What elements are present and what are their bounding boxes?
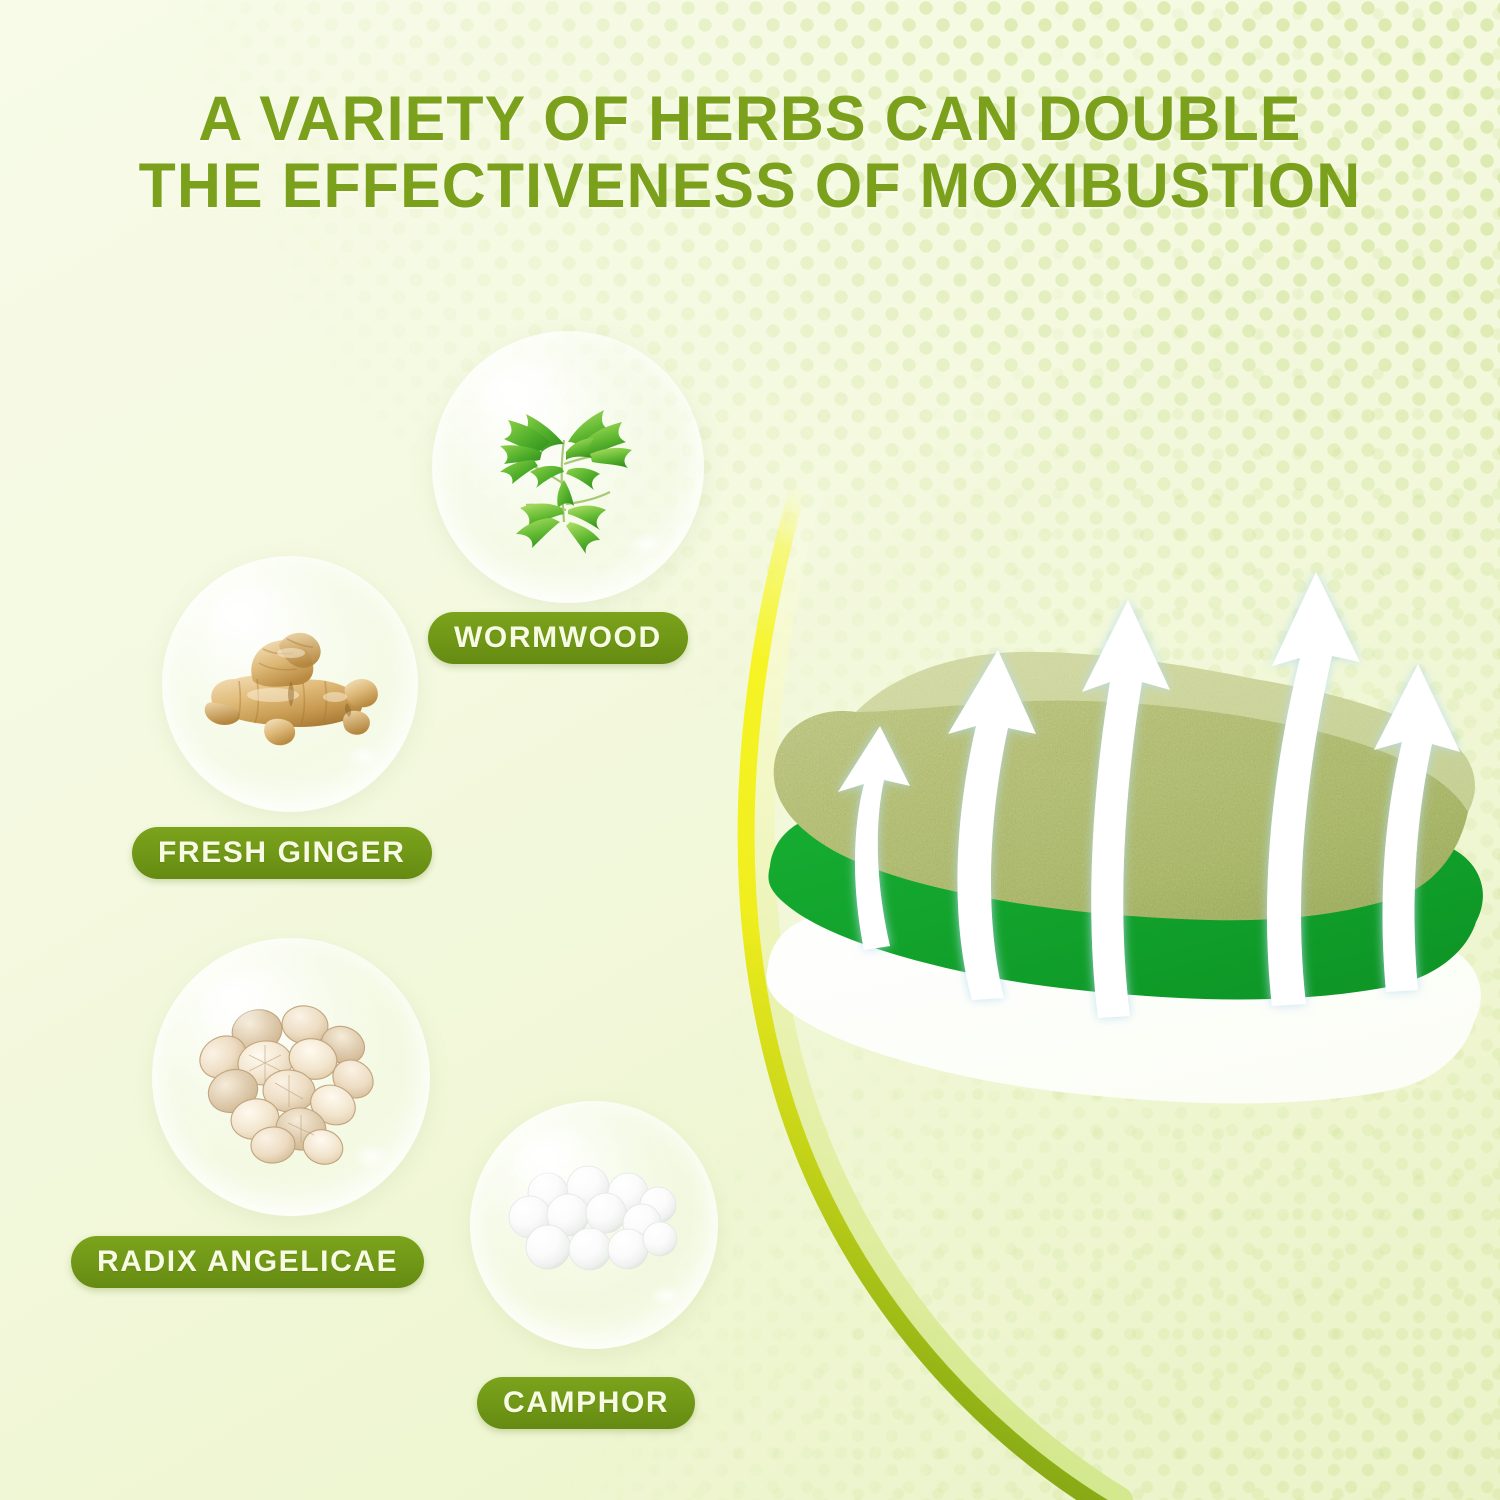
- herb-label-camphor[interactable]: CAMPHOR: [477, 1377, 695, 1429]
- camphor-balls-icon: [470, 1101, 718, 1349]
- ginger-root-icon: [162, 556, 418, 812]
- herb-bubble-radix-angelicae: [152, 938, 430, 1216]
- herb-label-text: FRESH GINGER: [158, 836, 406, 870]
- wormwood-sprig-icon: [432, 331, 704, 603]
- page-title-line-2: THE EFFECTIVENESS OF MOXIBUSTION: [26, 153, 1474, 220]
- herb-label-text: RADIX ANGELICAE: [97, 1245, 398, 1279]
- infographic-canvas: A VARIETY OF HERBS CAN DOUBLE THE EFFECT…: [0, 0, 1500, 1500]
- herb-label-ginger[interactable]: FRESH GINGER: [132, 827, 432, 879]
- herb-bubble-camphor: [470, 1101, 718, 1349]
- herb-bubble-wormwood: [432, 331, 704, 603]
- herb-label-text: WORMWOOD: [454, 621, 662, 655]
- herb-label-radix-angelicae[interactable]: RADIX ANGELICAE: [71, 1236, 424, 1288]
- page-title: A VARIETY OF HERBS CAN DOUBLE THE EFFECT…: [26, 86, 1474, 221]
- page-title-line-1: A VARIETY OF HERBS CAN DOUBLE: [26, 86, 1474, 153]
- dried-root-slices-icon: [152, 938, 430, 1216]
- herb-label-text: CAMPHOR: [503, 1386, 669, 1420]
- herb-bubble-ginger: [162, 556, 418, 812]
- moxibustion-patch-cross-section: [760, 530, 1500, 1150]
- herb-label-wormwood[interactable]: WORMWOOD: [428, 612, 688, 664]
